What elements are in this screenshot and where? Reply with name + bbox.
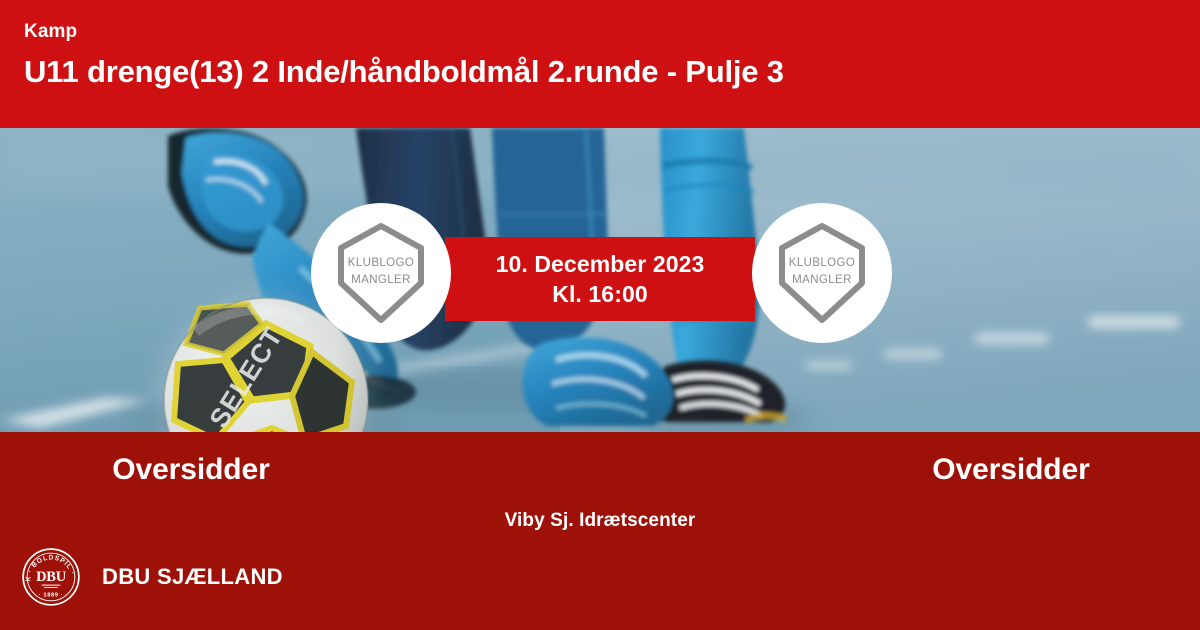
svg-text:· 1889 ·: · 1889 ·: [39, 593, 64, 599]
footer: DANSK · BOLDSPIL · UNION DBU · 1889 · DB…: [22, 548, 283, 606]
shield-icon: KLUBLOGO MANGLER: [774, 221, 870, 325]
venue-name: Viby Sj. Idrætscenter: [0, 508, 1200, 534]
match-date: 10. December 2023: [496, 249, 705, 279]
away-club-logo-line1: KLUBLOGO: [789, 255, 855, 272]
match-date-banner: 10. December 2023 Kl. 16:00: [445, 237, 755, 321]
dbu-logo-icon: DANSK · BOLDSPIL · UNION DBU · 1889 ·: [22, 548, 80, 606]
match-poster: Kamp U11 drenge(13) 2 Inde/håndboldmål 2…: [0, 0, 1200, 630]
svg-text:DBU: DBU: [36, 569, 67, 585]
away-team-name: Oversidder: [600, 450, 1200, 490]
match-time: Kl. 16:00: [552, 279, 648, 309]
home-team-name: Oversidder: [0, 450, 600, 490]
away-club-logo[interactable]: KLUBLOGO MANGLER: [752, 203, 892, 343]
home-club-logo-text: KLUBLOGO MANGLER: [348, 255, 414, 289]
footer-label: DBU SJÆLLAND: [102, 564, 283, 590]
home-club-logo-line2: MANGLER: [348, 272, 414, 289]
page-title: U11 drenge(13) 2 Inde/håndboldmål 2.rund…: [24, 52, 1176, 92]
shield-icon: KLUBLOGO MANGLER: [333, 221, 429, 325]
home-club-logo[interactable]: KLUBLOGO MANGLER: [311, 203, 451, 343]
poster-header: Kamp U11 drenge(13) 2 Inde/håndboldmål 2…: [0, 0, 1200, 128]
teams-row: Oversidder Oversidder: [0, 450, 1200, 490]
away-club-logo-text: KLUBLOGO MANGLER: [789, 255, 855, 289]
home-club-logo-line1: KLUBLOGO: [348, 255, 414, 272]
away-club-logo-line2: MANGLER: [789, 272, 855, 289]
header-eyebrow: Kamp: [24, 20, 1176, 44]
